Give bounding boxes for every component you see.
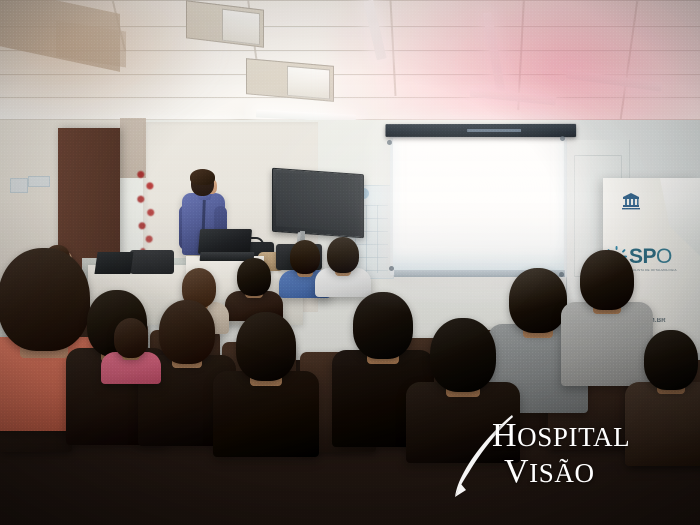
seated-audience (0, 0, 700, 525)
person-far-right-edge (636, 330, 700, 470)
person-head (114, 318, 149, 358)
person-head (159, 300, 215, 364)
photo-canvas: SPO SOCIEDADE PAULISTA DE OFTALMOLOGIA W… (0, 0, 700, 525)
woman-pink-top (108, 318, 154, 378)
person-head (237, 258, 270, 296)
man-white-shirt (322, 237, 364, 285)
person-head (509, 268, 567, 333)
person-body (625, 382, 700, 466)
person-head (580, 250, 633, 310)
person-head (0, 248, 90, 351)
person-head (644, 330, 697, 390)
person-head (353, 292, 412, 359)
woman-dark-hair-mid (232, 258, 276, 310)
person-head (290, 240, 320, 274)
person-head (327, 237, 359, 273)
man-dark-hair-right (420, 318, 506, 468)
person-head (430, 318, 495, 392)
man-back-right (572, 250, 642, 390)
woman-center-front (226, 312, 306, 462)
person-head (236, 312, 297, 381)
